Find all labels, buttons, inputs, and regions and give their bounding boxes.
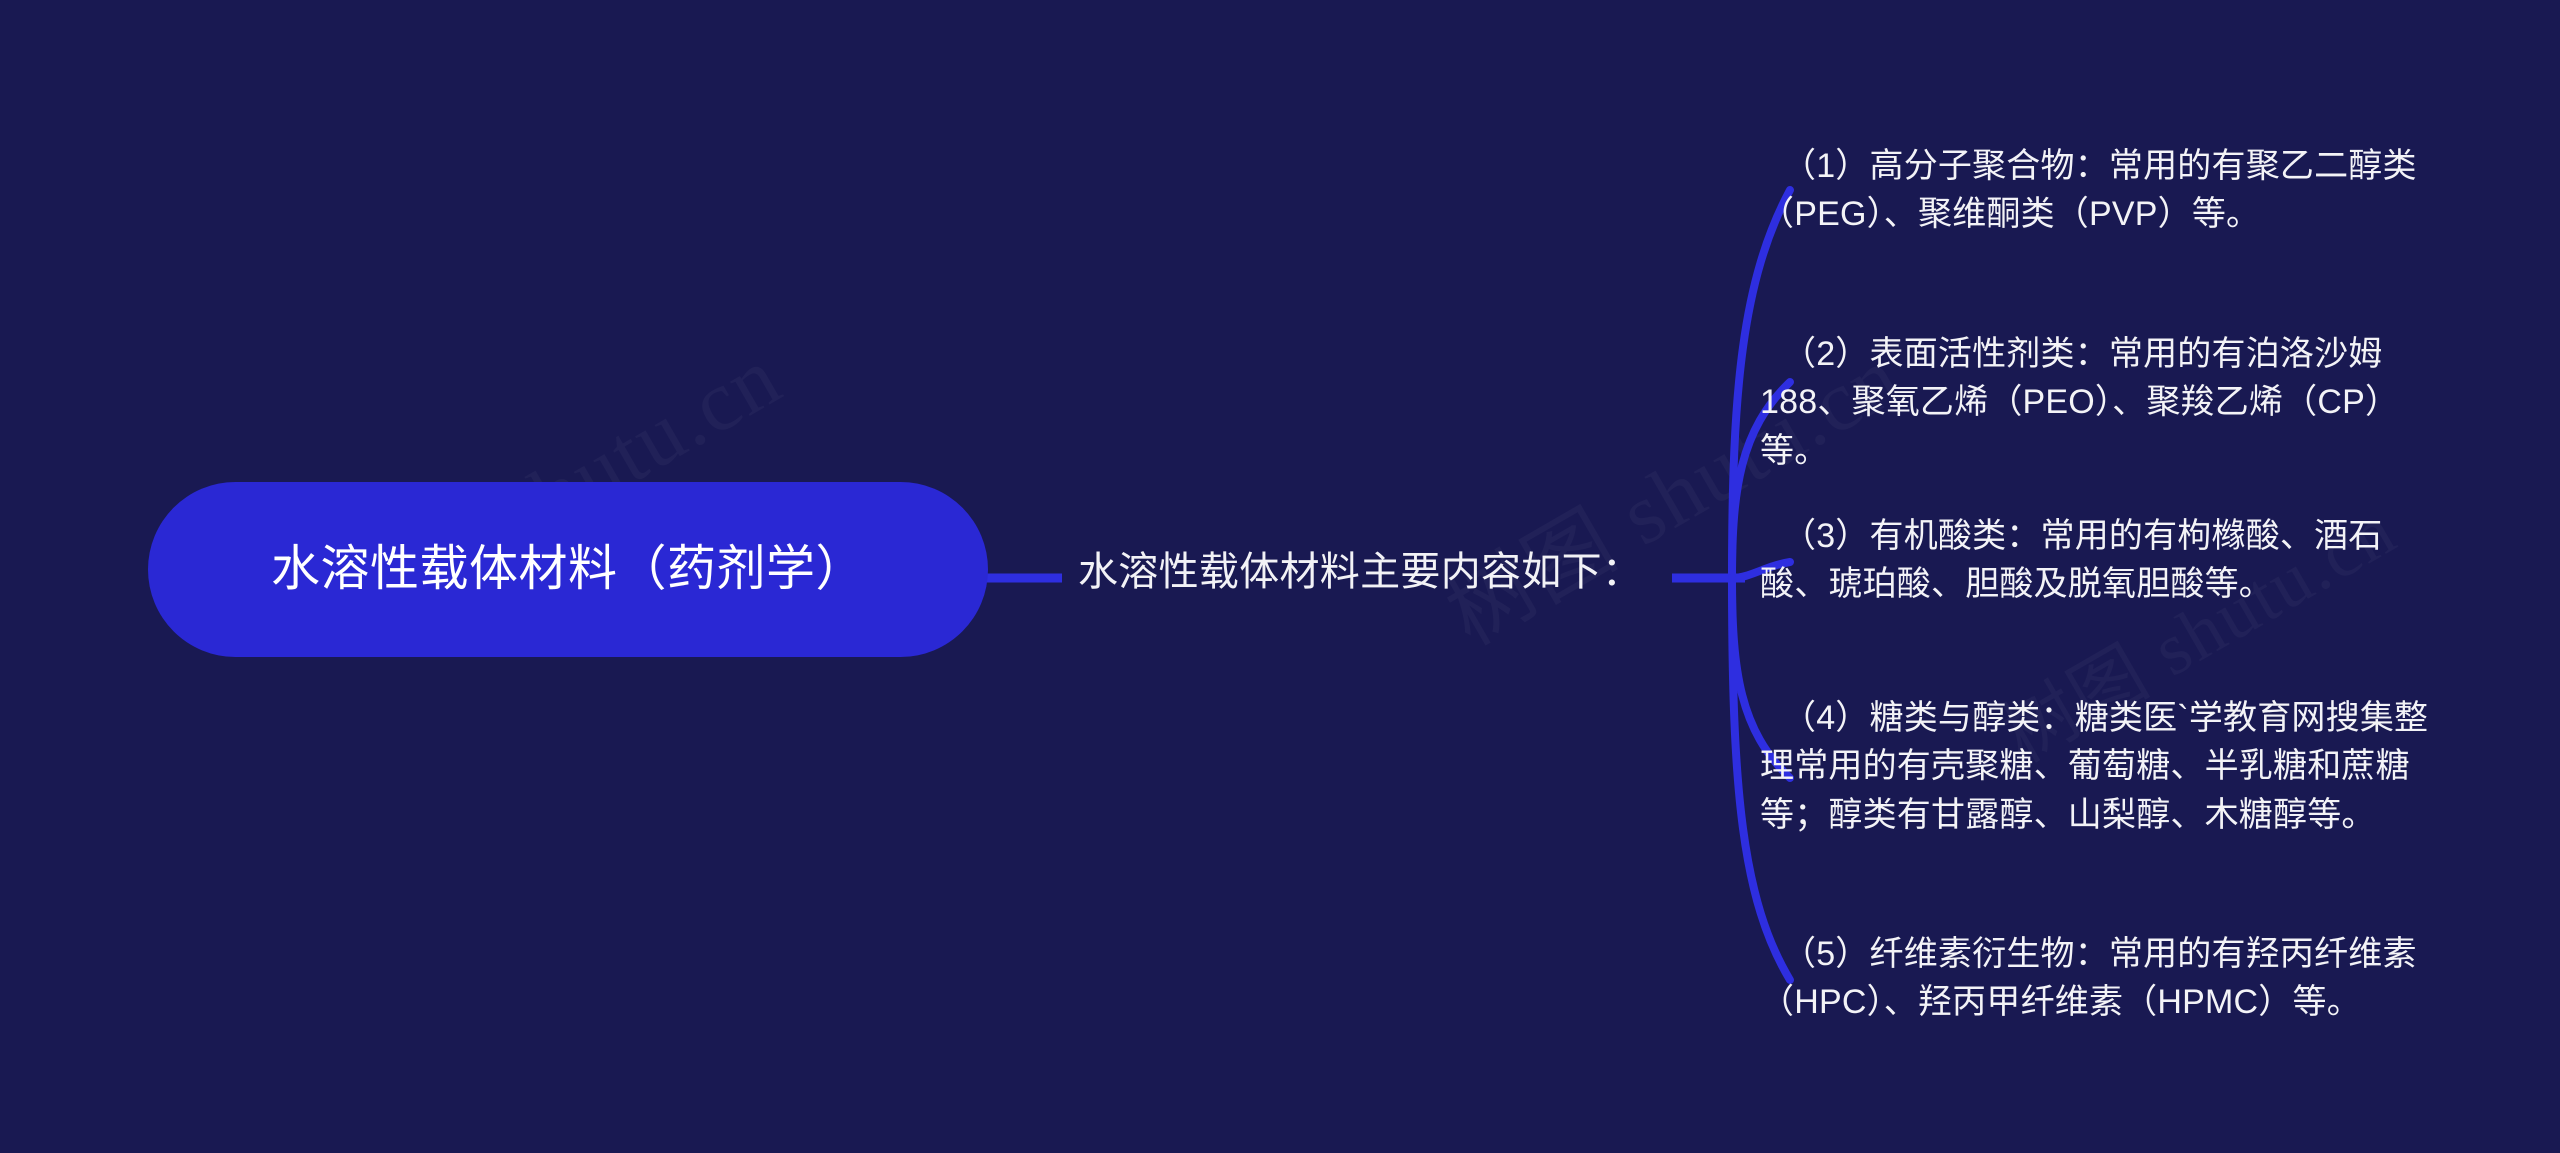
leaf-node-4[interactable]: （4）糖类与醇类：糖类医`学教育网搜集整理常用的有壳聚糖、葡萄糖、半乳糖和蔗糖等… [1760, 694, 2440, 839]
mindmap-canvas: 树图 shutu.cn 树图 shutu.cn 树图 shutu.cn 水溶性载… [0, 0, 2560, 1153]
leaf-node-2[interactable]: （2）表面活性剂类：常用的有泊洛沙姆188、聚氧乙烯（PEO）、聚羧乙烯（CP）… [1760, 330, 2440, 475]
leaf-node-1[interactable]: （1）高分子聚合物：常用的有聚乙二醇类（PEG）、聚维酮类（PVP）等。 [1760, 142, 2440, 239]
leaf-node-label: （2）表面活性剂类：常用的有泊洛沙姆188、聚氧乙烯（PEO）、聚羧乙烯（CP）… [1760, 330, 2440, 475]
leaf-node-label: （1）高分子聚合物：常用的有聚乙二醇类（PEG）、聚维酮类（PVP）等。 [1760, 142, 2440, 239]
leaf-node-3[interactable]: （3）有机酸类：常用的有枸橼酸、酒石酸、琥珀酸、胆酸及脱氧胆酸等。 [1760, 512, 2440, 609]
middle-node[interactable]: 水溶性载体材料主要内容如下： [1078, 546, 1698, 598]
leaf-node-label: （5）纤维素衍生物：常用的有羟丙纤维素（HPC）、羟丙甲纤维素（HPMC）等。 [1760, 930, 2440, 1027]
leaf-node-5[interactable]: （5）纤维素衍生物：常用的有羟丙纤维素（HPC）、羟丙甲纤维素（HPMC）等。 [1760, 930, 2440, 1027]
middle-node-label: 水溶性载体材料主要内容如下： [1078, 546, 1698, 598]
leaf-node-label: （4）糖类与醇类：糖类医`学教育网搜集整理常用的有壳聚糖、葡萄糖、半乳糖和蔗糖等… [1760, 694, 2440, 839]
root-node[interactable]: 水溶性载体材料（药剂学） [148, 482, 988, 657]
root-node-label: 水溶性载体材料（药剂学） [271, 538, 865, 601]
leaf-node-label: （3）有机酸类：常用的有枸橼酸、酒石酸、琥珀酸、胆酸及脱氧胆酸等。 [1760, 512, 2440, 609]
